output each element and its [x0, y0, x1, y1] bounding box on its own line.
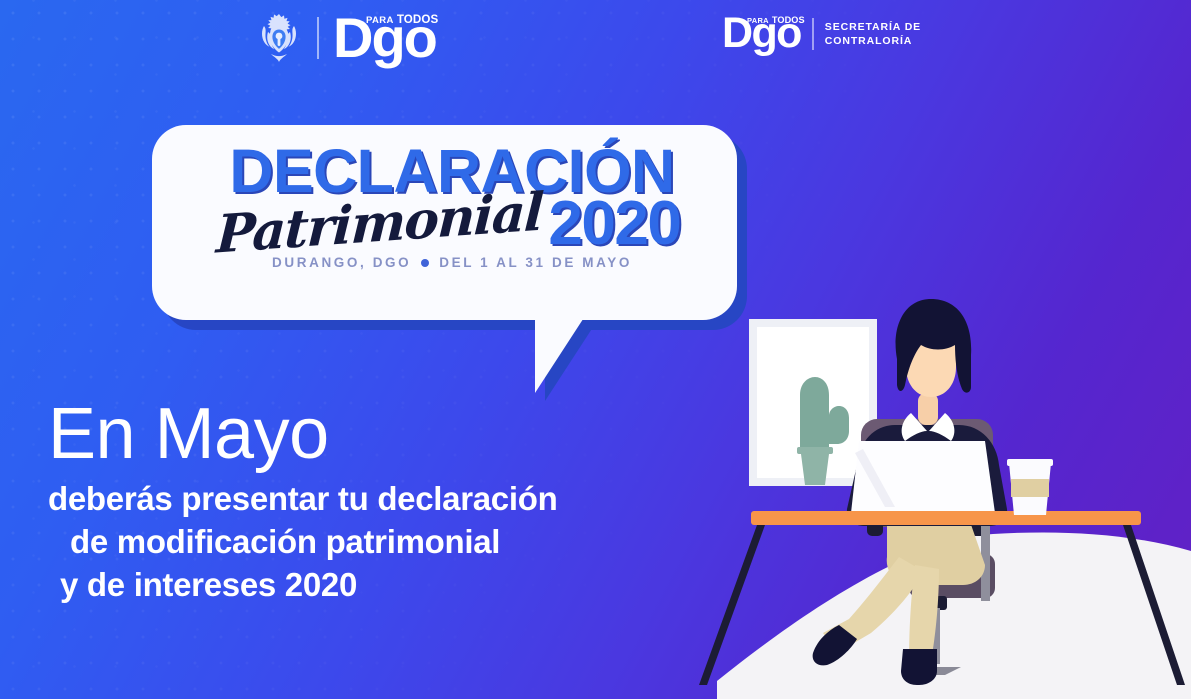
promo-poster: PARA TODOS Dgo PARA TODOS Dgo SECRETARÍA…	[0, 0, 1191, 699]
dgo-wordmark-secondary: PARA TODOS Dgo	[722, 16, 801, 52]
logo-divider-secondary	[812, 18, 814, 50]
tagline-todos: TODOS	[397, 14, 438, 26]
subcopy-line-3: y de intereses 2020	[48, 564, 557, 607]
subcopy-line-2: de modificación patrimonial	[48, 521, 557, 564]
headline-en-mayo: En Mayo	[48, 398, 557, 470]
durango-state-seal-icon	[255, 12, 303, 64]
title-second-row: Patrimonial 2020	[178, 197, 726, 253]
subcopy-block: deberás presentar tu declaración de modi…	[48, 478, 557, 607]
bubble-content: DECLARACIÓN Patrimonial 2020 DURANGO, DG…	[152, 125, 752, 405]
tagline-todos-secondary: TODOS	[772, 15, 805, 25]
dgo-wordmark: PARA TODOS Dgo	[333, 15, 436, 62]
title-year: 2020	[548, 196, 680, 252]
dependency-line-2: CONTRALORÍA	[825, 35, 912, 47]
laptop	[851, 441, 995, 513]
para-todos-tagline: PARA TODOS	[366, 14, 438, 26]
para-todos-tagline-secondary: PARA TODOS	[747, 15, 805, 25]
secretaria-contraloria-logo: PARA TODOS Dgo SECRETARÍA DE CONTRALORÍA	[722, 16, 921, 52]
woman-working-at-desk-illustration	[699, 289, 1191, 699]
tagline-para: PARA	[366, 15, 394, 26]
header-logo-bar: PARA TODOS Dgo PARA TODOS Dgo SECRETARÍA…	[0, 0, 1191, 84]
dependency-line-1: SECRETARÍA DE	[825, 21, 921, 33]
coffee-cup	[1007, 459, 1053, 515]
bullet-dot-icon	[421, 259, 429, 267]
subcopy-line-1: deberás presentar tu declaración	[48, 478, 557, 521]
subline-dates: DEL 1 AL 31 DE MAYO	[439, 255, 632, 270]
logo-divider	[317, 17, 319, 59]
campaign-title-speech-bubble: DECLARACIÓN Patrimonial 2020 DURANGO, DG…	[152, 125, 752, 405]
tagline-para-secondary: PARA	[747, 16, 769, 25]
dependency-name: SECRETARÍA DE CONTRALORÍA	[825, 20, 921, 48]
campaign-copy-block: En Mayo deberás presentar tu declaración…	[48, 398, 557, 607]
durango-government-logo: PARA TODOS Dgo	[255, 12, 436, 64]
woman-neck	[918, 393, 938, 425]
